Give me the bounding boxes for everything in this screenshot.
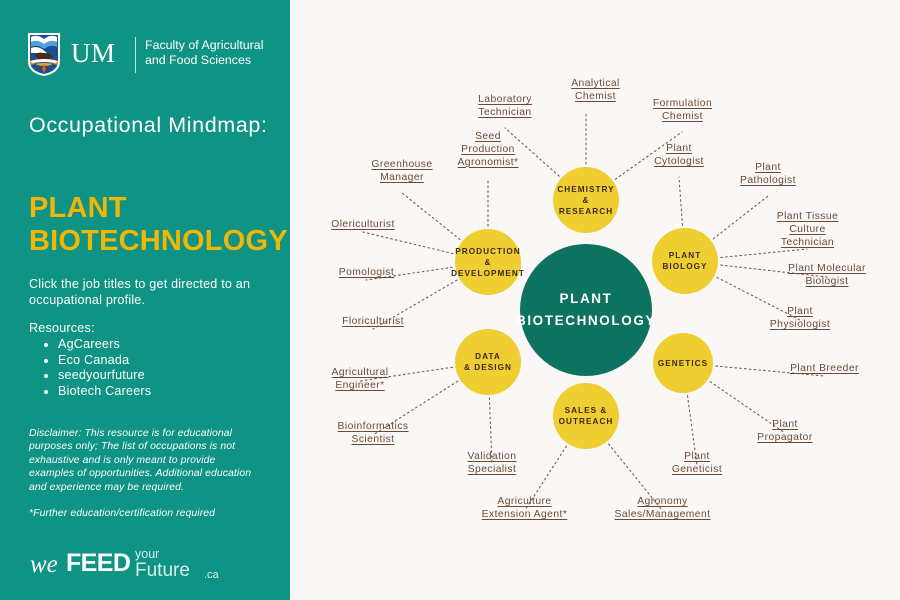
job-label-bioinformatics-scientist[interactable]: Bioinformatics Scientist: [318, 421, 428, 447]
job-label-plant-molecular-biologist[interactable]: Plant Molecular Biologist: [767, 263, 887, 289]
disclaimer-text: Disclaimer: This resource is for educati…: [29, 427, 261, 494]
connector-olericulturist: [363, 232, 453, 254]
faculty-name: Faculty of Agricultural and Food Science…: [145, 38, 280, 68]
job-label-analytical-chemist[interactable]: Analytical Chemist: [548, 78, 643, 104]
job-label-plant-geneticist[interactable]: Plant Geneticist: [652, 451, 742, 477]
node-label: DATA & DESIGN: [464, 351, 512, 373]
resources-list: AgCareers Eco Canada seedyourfuture Biot…: [42, 337, 151, 399]
faculty-line-1: Faculty of Agricultural: [145, 38, 263, 52]
page-eyebrow-title: Occupational Mindmap:: [29, 110, 279, 140]
node-label: CHEMISTRY & RESEARCH: [553, 184, 619, 217]
job-label-olericulturist[interactable]: Olericulturist: [313, 219, 413, 232]
connector-plant-cytologist: [679, 177, 682, 225]
job-label-agricultural-engineer[interactable]: Agricultural Engineer*: [310, 367, 410, 393]
um-logo-block: UM Faculty of Agricultural and Food Scie…: [27, 31, 267, 81]
job-label-seed-production-agronomist[interactable]: Seed Production Agronomist*: [438, 131, 538, 169]
job-label-plant-propagator[interactable]: Plant Propagator: [740, 419, 830, 445]
mindmap-canvas: PLANT BIOTECHNOLOGYCHEMISTRY & RESEARCHP…: [290, 0, 900, 600]
wefeedyourfuture-logo: we FEED your Future .ca: [30, 545, 240, 585]
resources-heading: Resources:: [29, 321, 95, 335]
list-item[interactable]: Eco Canada: [58, 353, 151, 369]
category-node-chemistry-research[interactable]: CHEMISTRY & RESEARCH: [553, 167, 619, 233]
job-label-plant-physiologist[interactable]: Plant Physiologist: [750, 306, 850, 332]
logo-we: we: [30, 551, 58, 579]
job-label-laboratory-technician[interactable]: Laboratory Technician: [455, 94, 555, 120]
category-node-sales-outreach[interactable]: SALES & OUTREACH: [553, 383, 619, 449]
connector-greenhouse-manager: [402, 193, 460, 239]
job-label-plant-tissue-culture-tech[interactable]: Plant Tissue Culture Technician: [755, 211, 860, 249]
job-label-plant-pathologist[interactable]: Plant Pathologist: [723, 162, 813, 188]
job-label-greenhouse-manager[interactable]: Greenhouse Manager: [352, 159, 452, 185]
logo-future: Future: [135, 560, 190, 582]
category-node-plant-biology[interactable]: PLANT BIOLOGY: [652, 228, 718, 294]
list-item[interactable]: Biotech Careers: [58, 384, 151, 400]
occupational-mindmap-page: UM Faculty of Agricultural and Food Scie…: [0, 0, 900, 600]
job-label-formulation-chemist[interactable]: Formulation Chemist: [630, 98, 735, 124]
list-item[interactable]: seedyourfuture: [58, 368, 151, 384]
job-label-validation-specialist[interactable]: Validation Specialist: [442, 451, 542, 477]
node-label: GENETICS: [658, 358, 708, 369]
node-label: PRODUCTION & DEVELOPMENT: [451, 246, 525, 279]
um-shield-bison-icon: [27, 31, 61, 77]
list-item[interactable]: AgCareers: [58, 337, 151, 353]
job-label-agriculture-extension[interactable]: Agriculture Extension Agent*: [462, 496, 587, 522]
job-label-agronomy-sales-management[interactable]: Agronomy Sales/Management: [595, 496, 730, 522]
center-node-plant-biotechnology[interactable]: PLANT BIOTECHNOLOGY: [520, 244, 652, 376]
category-node-data-design[interactable]: DATA & DESIGN: [455, 329, 521, 395]
instruction-text: Click the job titles to get directed to …: [29, 276, 265, 308]
logo-divider: [135, 37, 136, 73]
node-label: PLANT BIOLOGY: [662, 250, 707, 272]
category-node-production-development[interactable]: PRODUCTION & DEVELOPMENT: [455, 229, 521, 295]
job-label-plant-breeder[interactable]: Plant Breeder: [772, 363, 877, 376]
um-wordmark: UM: [71, 38, 116, 69]
further-education-note: *Further education/certification require…: [29, 508, 279, 519]
node-label: PLANT BIOTECHNOLOGY: [516, 288, 656, 332]
node-label: SALES & OUTREACH: [559, 405, 614, 427]
logo-feed: FEED: [66, 549, 130, 578]
job-label-plant-cytologist[interactable]: Plant Cytologist: [634, 143, 724, 169]
job-label-pomologist[interactable]: Pomologist: [319, 267, 414, 280]
category-node-genetics[interactable]: GENETICS: [653, 333, 713, 393]
logo-your: your: [135, 547, 159, 561]
page-title: PLANT BIOTECHNOLOGY: [29, 192, 291, 258]
faculty-line-2: and Food Sciences: [145, 53, 251, 67]
connector-plant-tissue-culture-tech: [721, 249, 807, 257]
sidebar-panel: UM Faculty of Agricultural and Food Scie…: [0, 0, 290, 600]
job-label-floriculturist[interactable]: Floriculturist: [323, 316, 423, 329]
logo-ca: .ca: [204, 569, 219, 581]
